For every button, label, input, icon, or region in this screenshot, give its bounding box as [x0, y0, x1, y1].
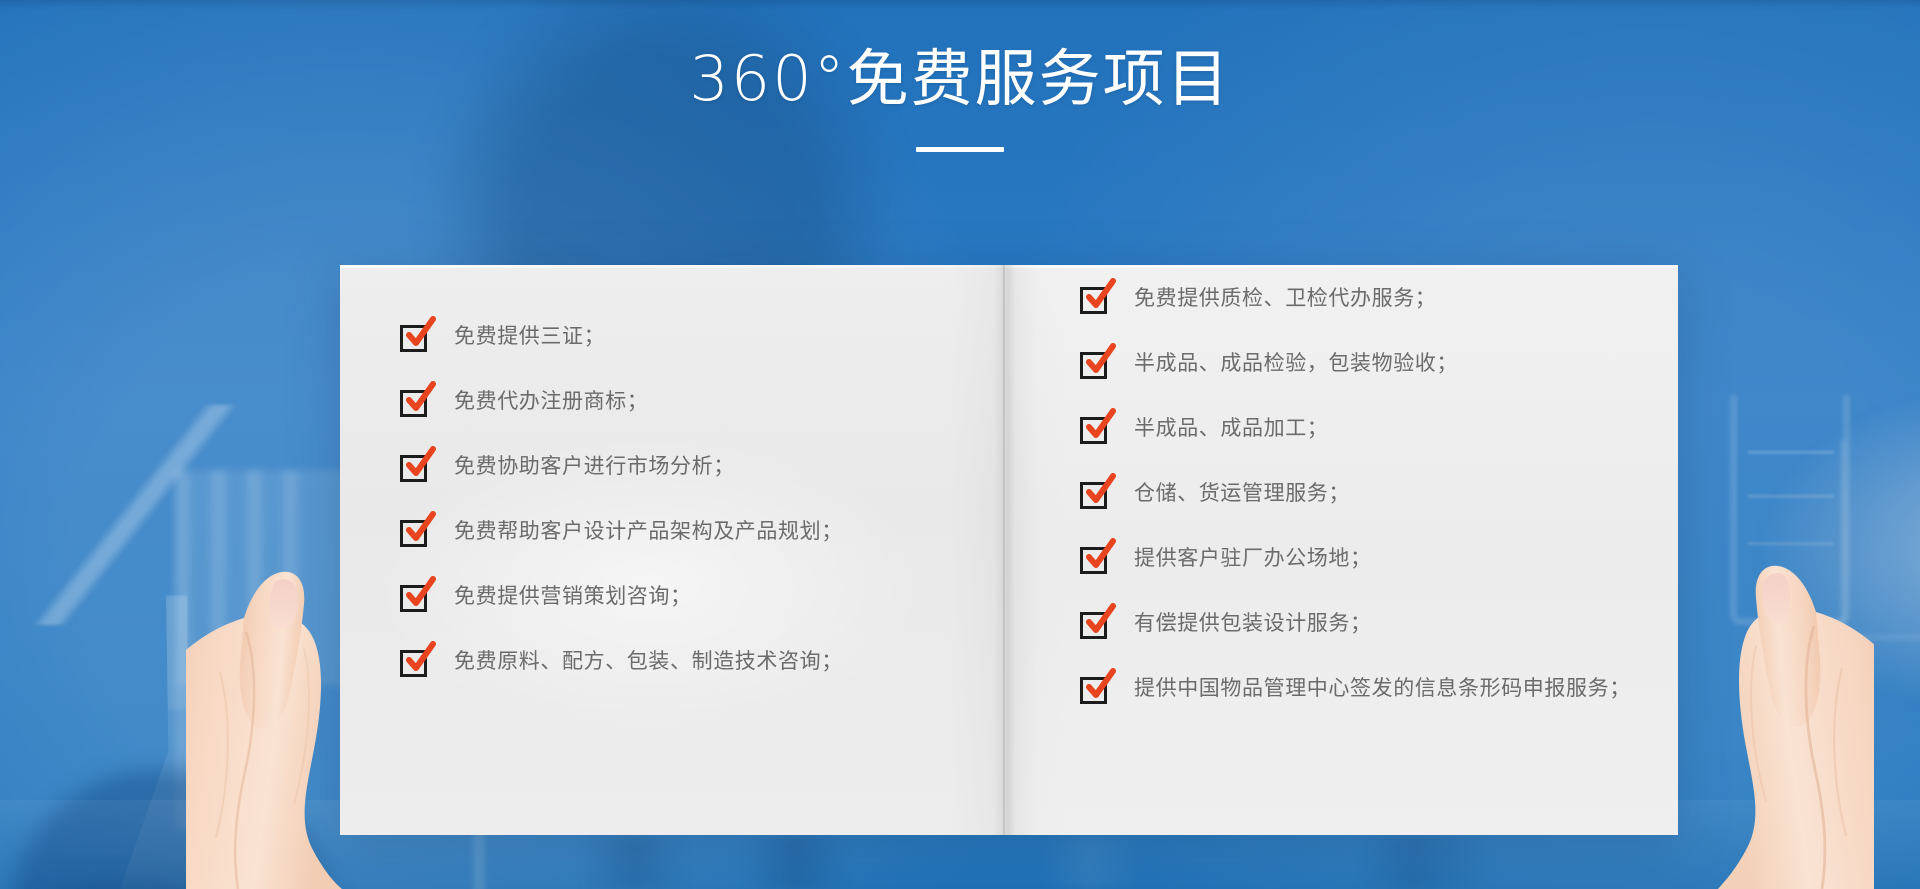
header: 360°免费服务项目	[0, 46, 1920, 152]
service-list-right: 免费提供质检、卫检代办服务； 半成品、成品检验，包装物验收； 半成品、成品加工；…	[1080, 283, 1680, 704]
list-item-label: 仓储、货运管理服务；	[1134, 478, 1350, 509]
list-item-label: 免费提供质检、卫检代办服务；	[1134, 283, 1436, 314]
list-item[interactable]: 免费代办注册商标；	[400, 386, 960, 417]
background-beaker-far-right	[1840, 440, 1920, 640]
list-item[interactable]: 半成品、成品检验，包装物验收；	[1080, 348, 1680, 379]
page-right-top-edge	[1004, 265, 1678, 268]
list-item[interactable]: 免费提供营销策划咨询；	[400, 581, 960, 612]
list-item[interactable]: 免费协助客户进行市场分析；	[400, 451, 960, 482]
background-beaker-graduations	[1748, 430, 1834, 600]
list-item-label: 免费提供三证；	[454, 321, 605, 352]
list-item[interactable]: 有偿提供包装设计服务；	[1080, 608, 1680, 639]
list-item-label: 免费原料、配方、包装、制造技术咨询；	[454, 646, 843, 677]
list-item[interactable]: 半成品、成品加工；	[1080, 413, 1680, 444]
list-item-label: 有偿提供包装设计服务；	[1134, 608, 1372, 639]
list-item-label: 提供客户驻厂办公场地；	[1134, 543, 1372, 574]
book-spine-shadow	[948, 265, 1068, 835]
list-item-label: 免费代办注册商标；	[454, 386, 648, 417]
list-item[interactable]: 免费提供质检、卫检代办服务；	[1080, 283, 1680, 314]
checked-checkbox-icon[interactable]	[400, 650, 427, 677]
list-item[interactable]: 仓储、货运管理服务；	[1080, 478, 1680, 509]
list-item-label: 提供中国物品管理中心签发的信息条形码申报服务；	[1134, 673, 1631, 704]
checked-checkbox-icon[interactable]	[400, 325, 427, 352]
checked-checkbox-icon[interactable]	[400, 455, 427, 482]
checked-checkbox-icon[interactable]	[400, 520, 427, 547]
checked-checkbox-icon[interactable]	[1080, 677, 1107, 704]
list-item-label: 半成品、成品加工；	[1134, 413, 1328, 444]
checked-checkbox-icon[interactable]	[400, 585, 427, 612]
list-item-label: 免费提供营销策划咨询；	[454, 581, 692, 612]
list-item[interactable]: 提供中国物品管理中心签发的信息条形码申报服务；	[1080, 673, 1680, 704]
checked-checkbox-icon[interactable]	[1080, 352, 1107, 379]
checked-checkbox-icon[interactable]	[1080, 417, 1107, 444]
list-item-label: 免费帮助客户设计产品架构及产品规划；	[454, 516, 843, 547]
checked-checkbox-icon[interactable]	[1080, 612, 1107, 639]
list-item-label: 免费协助客户进行市场分析；	[454, 451, 735, 482]
checked-checkbox-icon[interactable]	[1080, 287, 1107, 314]
list-item[interactable]: 免费帮助客户设计产品架构及产品规划；	[400, 516, 960, 547]
page-stage: 360°免费服务项目 免费提供三证；	[0, 0, 1920, 889]
list-item[interactable]: 免费提供三证；	[400, 321, 960, 352]
list-item[interactable]: 提供客户驻厂办公场地；	[1080, 543, 1680, 574]
book-spine-line	[1003, 265, 1005, 835]
background-fabric-folds	[340, 836, 1680, 889]
list-item[interactable]: 免费原料、配方、包装、制造技术咨询；	[400, 646, 960, 677]
list-item-label: 半成品、成品检验，包装物验收；	[1134, 348, 1458, 379]
service-list-left: 免费提供三证； 免费代办注册商标； 免费协助客户进行市场分析； 免费帮助客户设计…	[400, 321, 960, 677]
page-title: 360°免费服务项目	[0, 46, 1920, 113]
background-pipette	[18, 405, 248, 625]
checked-checkbox-icon[interactable]	[1080, 482, 1107, 509]
page-left-top-edge	[340, 265, 1004, 268]
checked-checkbox-icon[interactable]	[1080, 547, 1107, 574]
top-shadow-cast	[0, 0, 1920, 10]
checked-checkbox-icon[interactable]	[400, 390, 427, 417]
open-book: 免费提供三证； 免费代办注册商标； 免费协助客户进行市场分析； 免费帮助客户设计…	[340, 265, 1678, 835]
title-divider-rule	[916, 147, 1004, 152]
